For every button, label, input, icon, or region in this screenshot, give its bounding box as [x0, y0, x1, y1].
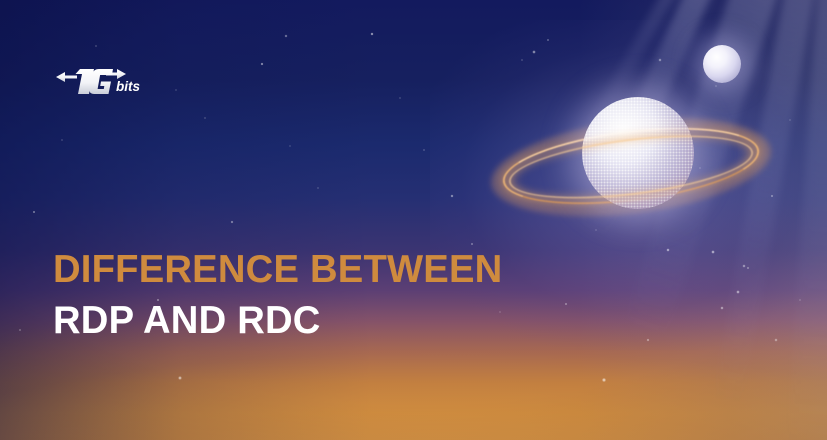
logo-bits-text: bits [116, 79, 140, 94]
logo-letter-g [89, 69, 113, 94]
rdp-vs-rdc-hero-banner: bits DIFFERENCE BETWEEN RDP AND RDC [0, 0, 827, 440]
1gbits-logo[interactable]: bits [56, 60, 152, 100]
ringed-planet [545, 95, 775, 245]
page-title-line-2: RDP AND RDC [53, 297, 602, 344]
small-moon [703, 45, 741, 83]
logo-left-arrow-icon [56, 72, 77, 82]
1gbits-logo-mark: bits [56, 60, 152, 100]
page-title: DIFFERENCE BETWEEN RDP AND RDC [53, 246, 613, 344]
page-title-line-1: DIFFERENCE BETWEEN [53, 246, 602, 293]
